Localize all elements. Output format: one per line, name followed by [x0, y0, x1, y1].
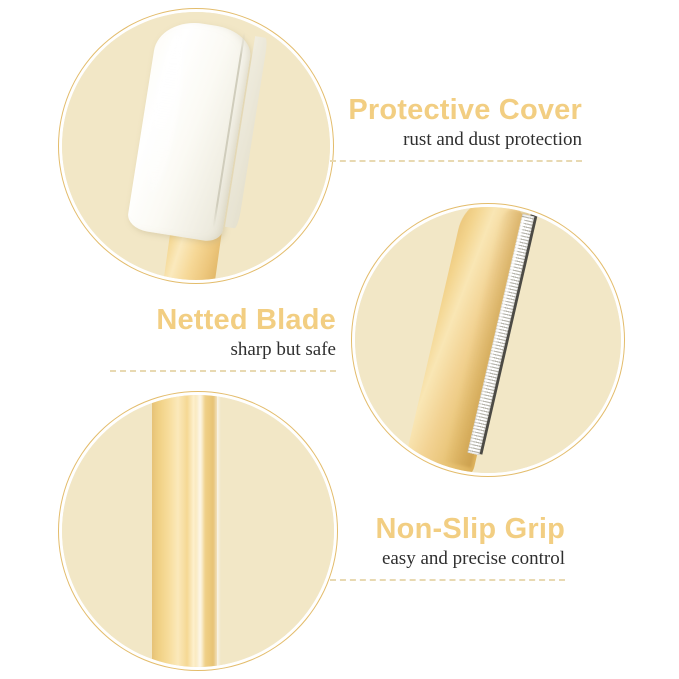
razor-grip-highlight-secondary — [214, 395, 220, 667]
caption-divider-non-slip-grip — [330, 579, 565, 581]
feature-caption-non-slip-grip: Non-Slip Grip easy and precise control — [330, 514, 565, 581]
feature-title-netted-blade: Netted Blade — [110, 305, 336, 336]
non-slip-grip-photo — [62, 395, 334, 667]
feature-subtitle-netted-blade: sharp but safe — [110, 340, 336, 361]
razor-grip-highlight-primary — [195, 395, 205, 667]
feature-image-netted-blade — [355, 207, 621, 473]
netted-blade-photo — [355, 207, 621, 473]
feature-image-protective-cover — [62, 12, 330, 280]
caption-divider-netted-blade — [110, 370, 336, 372]
feature-title-protective-cover: Protective Cover — [330, 95, 582, 126]
infographic-canvas: Protective Cover rust and dust protectio… — [0, 0, 679, 679]
feature-caption-netted-blade: Netted Blade sharp but safe — [110, 305, 336, 372]
feature-subtitle-non-slip-grip: easy and precise control — [330, 549, 565, 570]
feature-image-non-slip-grip — [62, 395, 334, 667]
feature-caption-protective-cover: Protective Cover rust and dust protectio… — [330, 95, 582, 162]
feature-title-non-slip-grip: Non-Slip Grip — [330, 514, 565, 545]
razor-grip-shape — [152, 395, 217, 667]
feature-subtitle-protective-cover: rust and dust protection — [330, 130, 582, 151]
caption-divider-protective-cover — [330, 160, 582, 162]
protective-cover-photo — [62, 12, 330, 280]
